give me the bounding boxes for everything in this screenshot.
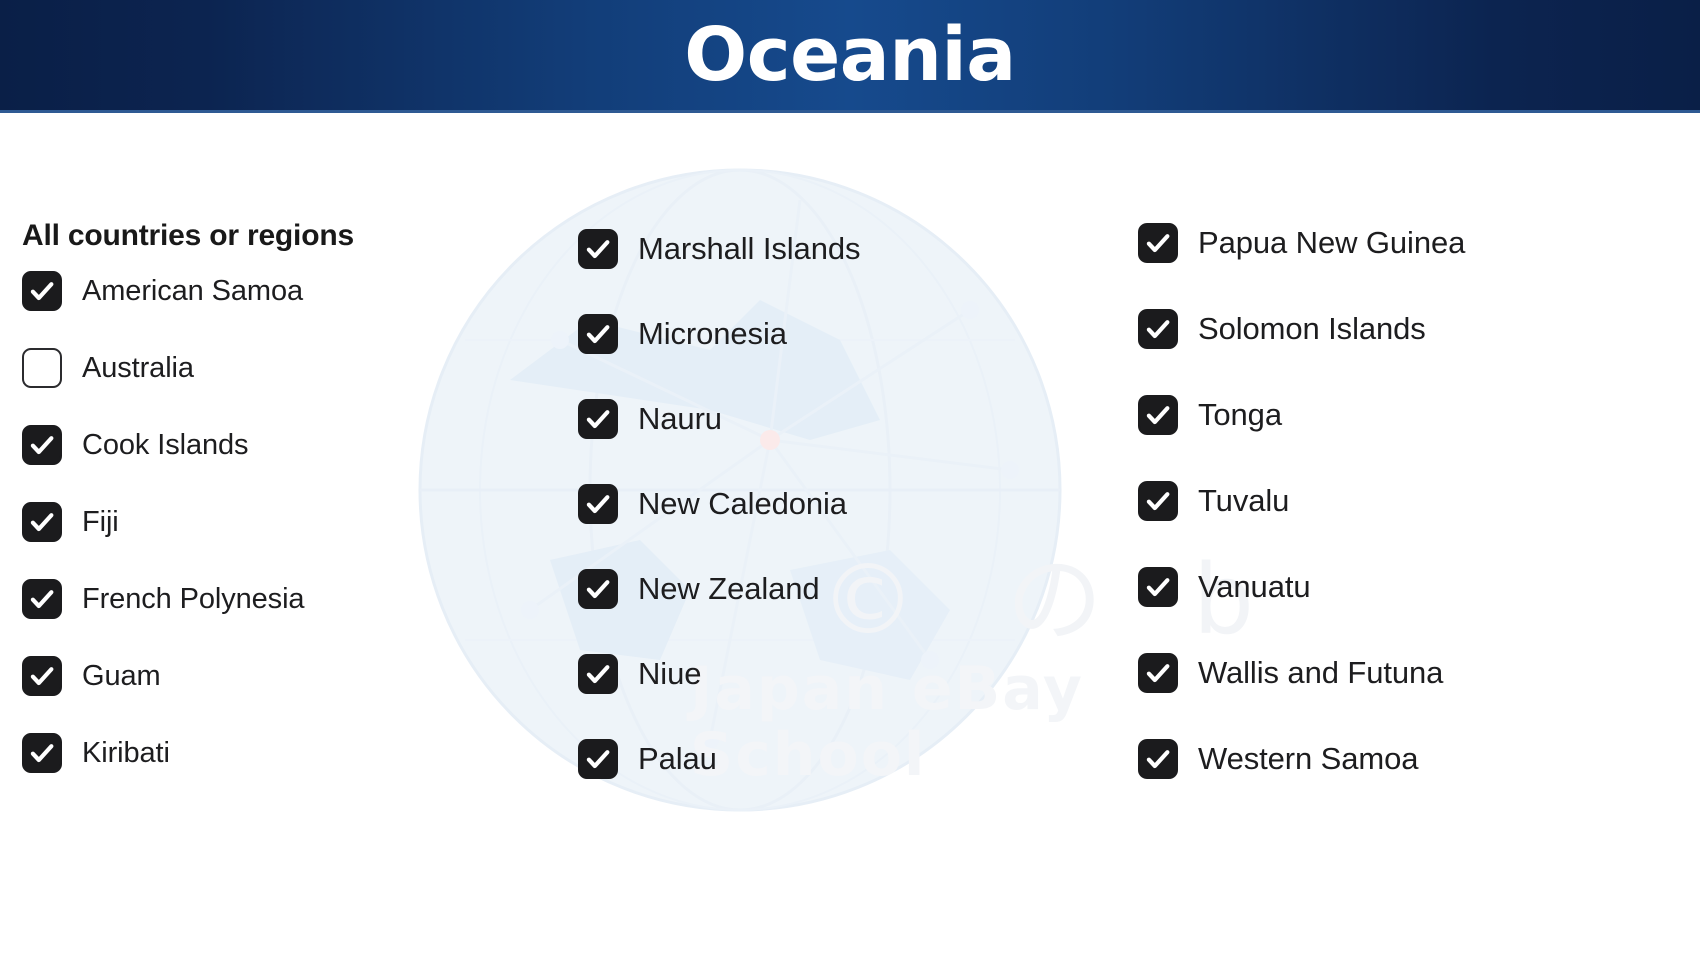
checkbox-row[interactable]: Papua New Guinea — [1138, 221, 1683, 265]
checkbox-label: Western Samoa — [1198, 741, 1418, 777]
checkbox-label: Cook Islands — [82, 428, 248, 462]
checkbox-row[interactable]: Niue — [578, 652, 1118, 696]
checkbox-checked-icon[interactable] — [578, 739, 618, 779]
checkbox-label: Nauru — [638, 401, 722, 437]
checkbox-label: Tuvalu — [1198, 483, 1289, 519]
checkbox-checked-icon[interactable] — [22, 733, 62, 773]
checkbox-label: Solomon Islands — [1198, 311, 1426, 347]
checkbox-row[interactable]: Tonga — [1138, 393, 1683, 437]
checkbox-label: Tonga — [1198, 397, 1282, 433]
checkbox-label: American Samoa — [82, 274, 303, 308]
checkbox-checked-icon[interactable] — [1138, 653, 1178, 693]
checkbox-label: Niue — [638, 656, 701, 692]
checkbox-checked-icon[interactable] — [1138, 395, 1178, 435]
checkbox-label: Vanuatu — [1198, 569, 1311, 605]
checkbox-row[interactable]: Fiji — [22, 500, 542, 544]
checkbox-row[interactable]: American Samoa — [22, 269, 542, 313]
checkbox-label: French Polynesia — [82, 582, 304, 616]
checkbox-row[interactable]: Marshall Islands — [578, 227, 1118, 271]
checkbox-label: Kiribati — [82, 736, 170, 770]
checkbox-checked-icon[interactable] — [578, 484, 618, 524]
checkbox-label: Guam — [82, 659, 161, 693]
checkbox-checked-icon[interactable] — [1138, 481, 1178, 521]
checkbox-label: Micronesia — [638, 316, 787, 352]
country-column-left: All countries or regions American SamoaA… — [22, 113, 542, 808]
checkbox-label: Wallis and Futuna — [1198, 655, 1443, 691]
column-heading-all-countries: All countries or regions — [22, 219, 542, 253]
checkbox-label: Fiji — [82, 505, 119, 539]
checkbox-checked-icon[interactable] — [1138, 223, 1178, 263]
page-header-banner: Oceania — [0, 0, 1700, 113]
checkbox-row[interactable]: Kiribati — [22, 731, 542, 775]
checkbox-checked-icon[interactable] — [22, 502, 62, 542]
checkbox-row[interactable]: Tuvalu — [1138, 479, 1683, 523]
checkbox-checked-icon[interactable] — [578, 314, 618, 354]
checkbox-row[interactable]: French Polynesia — [22, 577, 542, 621]
checkbox-row[interactable]: Solomon Islands — [1138, 307, 1683, 351]
checkbox-label: Papua New Guinea — [1198, 225, 1465, 261]
checkbox-row[interactable]: Vanuatu — [1138, 565, 1683, 609]
checkbox-label: Marshall Islands — [638, 231, 860, 267]
checkbox-unchecked-icon[interactable] — [22, 348, 62, 388]
checkbox-checked-icon[interactable] — [578, 399, 618, 439]
checkbox-checked-icon[interactable] — [22, 579, 62, 619]
checkbox-row[interactable]: Nauru — [578, 397, 1118, 441]
checkbox-checked-icon[interactable] — [22, 271, 62, 311]
checkbox-checked-icon[interactable] — [22, 425, 62, 465]
checkbox-row[interactable]: Cook Islands — [22, 423, 542, 467]
checkbox-row[interactable]: New Caledonia — [578, 482, 1118, 526]
checkbox-row[interactable]: Guam — [22, 654, 542, 698]
checkbox-checked-icon[interactable] — [578, 569, 618, 609]
country-column-middle: Marshall IslandsMicronesiaNauruNew Caled… — [578, 113, 1118, 822]
checkbox-row[interactable]: Palau — [578, 737, 1118, 781]
checkbox-row[interactable]: Wallis and Futuna — [1138, 651, 1683, 695]
checkbox-label: New Zealand — [638, 571, 820, 607]
checkbox-label: Australia — [82, 351, 194, 385]
checkbox-list-middle: Marshall IslandsMicronesiaNauruNew Caled… — [578, 227, 1118, 781]
checkbox-label: Palau — [638, 741, 717, 777]
checkbox-list-right: Papua New GuineaSolomon IslandsTongaTuva… — [1138, 221, 1683, 781]
checkbox-list-left: American SamoaAustraliaCook IslandsFijiF… — [22, 269, 542, 775]
checkbox-label: New Caledonia — [638, 486, 847, 522]
checkbox-checked-icon[interactable] — [22, 656, 62, 696]
checkbox-checked-icon[interactable] — [578, 229, 618, 269]
checkbox-checked-icon[interactable] — [1138, 309, 1178, 349]
checkbox-checked-icon[interactable] — [1138, 739, 1178, 779]
checkbox-row[interactable]: Australia — [22, 346, 542, 390]
checkbox-checked-icon[interactable] — [578, 654, 618, 694]
country-checkbox-grid: All countries or regions American SamoaA… — [0, 113, 1700, 966]
page-title: Oceania — [684, 18, 1015, 92]
checkbox-row[interactable]: Micronesia — [578, 312, 1118, 356]
checkbox-checked-icon[interactable] — [1138, 567, 1178, 607]
checkbox-row[interactable]: Western Samoa — [1138, 737, 1683, 781]
checkbox-row[interactable]: New Zealand — [578, 567, 1118, 611]
country-column-right: Papua New GuineaSolomon IslandsTongaTuva… — [1138, 113, 1683, 823]
